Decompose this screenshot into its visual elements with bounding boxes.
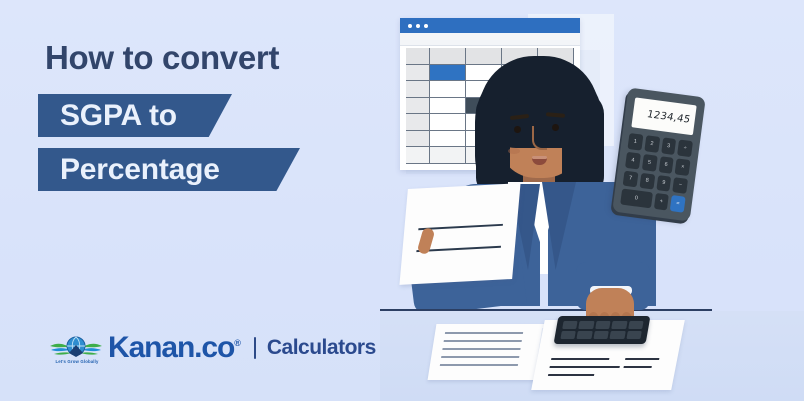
document-line bbox=[623, 366, 651, 368]
held-document bbox=[399, 183, 520, 285]
calc-key[interactable]: 7 bbox=[623, 170, 639, 187]
grid-cell bbox=[430, 81, 466, 98]
desk-calc-key[interactable] bbox=[560, 331, 576, 339]
cheek bbox=[508, 148, 520, 154]
grid-cell bbox=[430, 48, 466, 65]
document-line bbox=[442, 348, 520, 350]
desk-calc-key[interactable] bbox=[610, 331, 626, 339]
desk-calculator-keypad[interactable] bbox=[560, 321, 643, 339]
calc-key[interactable]: × bbox=[675, 158, 691, 175]
grid-cell bbox=[406, 65, 430, 82]
calc-key[interactable]: 8 bbox=[639, 172, 655, 189]
section-label: Calculators bbox=[267, 336, 376, 360]
brand-name: Kanan.co® bbox=[108, 333, 241, 363]
desk-calc-key[interactable] bbox=[593, 331, 609, 339]
window-dot-3 bbox=[424, 24, 428, 28]
brand-logo[interactable]: Let's Grow Globally Kanan.co® Calculator… bbox=[48, 333, 376, 363]
calc-key[interactable]: − bbox=[672, 177, 688, 194]
grid-cell bbox=[406, 114, 430, 131]
registered-mark: ® bbox=[234, 338, 241, 348]
calc-key[interactable]: 2 bbox=[644, 135, 660, 152]
calc-key[interactable]: + bbox=[653, 193, 669, 210]
calc-key[interactable]: ÷ bbox=[677, 140, 693, 157]
desk-calc-key[interactable] bbox=[611, 321, 627, 329]
document-line bbox=[441, 356, 519, 358]
highlight-band-percentage: Percentage bbox=[38, 148, 300, 191]
desk-calc-key[interactable] bbox=[626, 331, 642, 339]
banner-canvas: How to convert SGPA to Percentage bbox=[0, 0, 804, 401]
brand-text: Kanan.co bbox=[108, 331, 234, 364]
calculator-display-value: 1234,45 bbox=[645, 109, 691, 125]
grid-cell bbox=[406, 147, 430, 164]
desk-calc-key[interactable] bbox=[595, 321, 611, 329]
hair-left bbox=[476, 96, 510, 194]
desk-document-left bbox=[428, 324, 549, 380]
hero-illustration: % bbox=[380, 0, 804, 401]
window-dot-1 bbox=[408, 24, 412, 28]
desk-calc-key[interactable] bbox=[628, 321, 644, 329]
grid-cell bbox=[430, 98, 466, 115]
highlight-band-sgpa: SGPA to bbox=[38, 94, 232, 137]
grid-cell bbox=[430, 65, 466, 82]
grid-cell bbox=[406, 131, 430, 148]
window-title-bar bbox=[400, 18, 580, 33]
page-title-line2: SGPA to bbox=[38, 99, 177, 133]
emblem-tagline: Let's Grow Globally bbox=[49, 359, 105, 364]
calculator-display: 1234,45 bbox=[631, 97, 696, 135]
eye-left bbox=[514, 126, 521, 133]
grid-cell bbox=[406, 48, 430, 65]
logo-divider bbox=[254, 337, 256, 359]
document-line bbox=[625, 358, 659, 360]
handheld-calculator: 1234,45 1 2 3 ÷ 4 5 6 × 7 8 9 − 0 + = bbox=[612, 87, 706, 221]
document-line bbox=[548, 374, 594, 376]
calc-key[interactable]: 6 bbox=[658, 156, 674, 173]
document-line bbox=[551, 358, 609, 360]
desk-calc-key[interactable] bbox=[577, 331, 593, 339]
page-title-line1: How to convert bbox=[45, 39, 279, 77]
document-line bbox=[440, 364, 518, 366]
grid-cell bbox=[430, 114, 466, 131]
calc-key-equals[interactable]: = bbox=[670, 195, 686, 212]
grid-cell bbox=[406, 81, 430, 98]
desk-calc-key[interactable] bbox=[562, 321, 578, 329]
desk-calc-key[interactable] bbox=[579, 321, 595, 329]
calc-key[interactable]: 9 bbox=[656, 175, 672, 192]
grid-cell bbox=[406, 98, 430, 115]
desk-calculator[interactable] bbox=[554, 316, 651, 344]
calc-key[interactable]: 5 bbox=[642, 154, 658, 171]
grid-cell bbox=[430, 131, 466, 148]
calc-key[interactable]: 4 bbox=[625, 152, 641, 169]
globe-wings-icon: Let's Grow Globally bbox=[48, 333, 104, 363]
grid-cell bbox=[430, 147, 466, 164]
calc-key[interactable]: 1 bbox=[628, 133, 644, 150]
window-dot-2 bbox=[416, 24, 420, 28]
grid-cell bbox=[466, 48, 502, 65]
nose bbox=[532, 126, 547, 150]
document-line bbox=[444, 340, 522, 342]
document-line bbox=[445, 332, 523, 334]
document-line bbox=[549, 366, 619, 368]
calc-key[interactable]: 0 bbox=[620, 189, 652, 209]
page-title-line3: Percentage bbox=[38, 153, 220, 187]
window-toolbar bbox=[400, 33, 580, 46]
desk-edge bbox=[380, 309, 712, 311]
upper-lip bbox=[532, 156, 547, 159]
eye-right bbox=[552, 124, 559, 131]
calculator-keypad[interactable]: 1 2 3 ÷ 4 5 6 × 7 8 9 − 0 + = bbox=[620, 133, 693, 213]
calc-key[interactable]: 3 bbox=[661, 137, 677, 154]
